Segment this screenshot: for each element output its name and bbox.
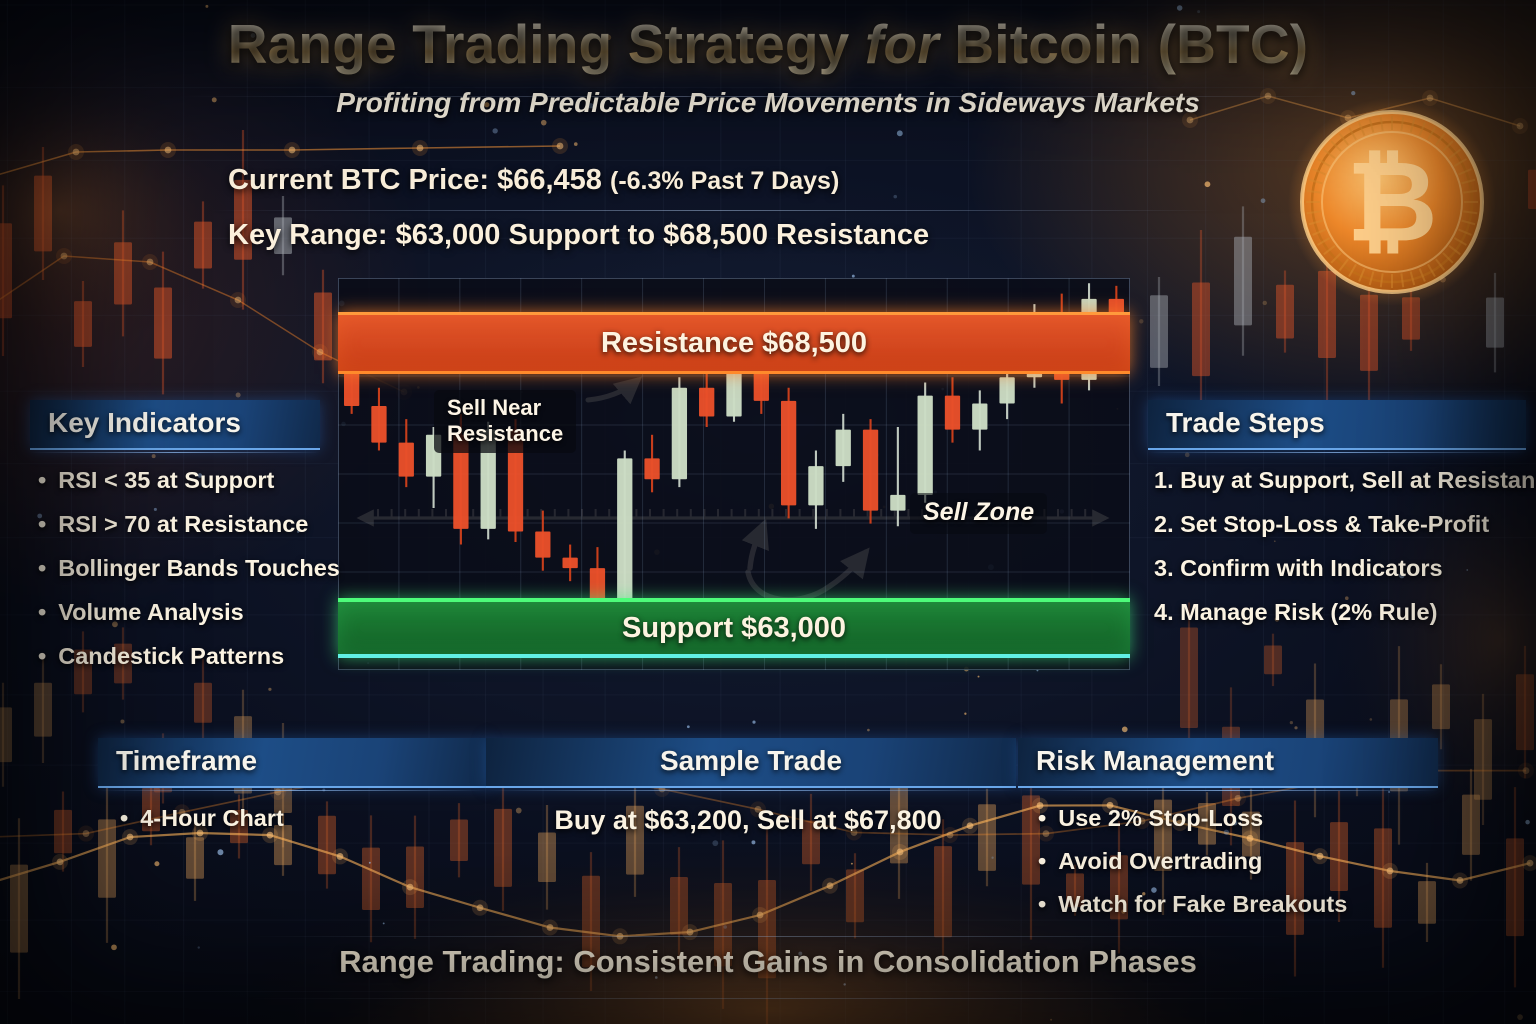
- panel-risk-management-title: Risk Management: [1036, 745, 1274, 776]
- footer-divider-bottom: [250, 998, 1285, 999]
- panel-trade-steps: Trade Steps 1. Buy at Support, Sell at R…: [1148, 400, 1526, 643]
- list-item: Bollinger Bands Touches: [38, 555, 324, 582]
- sell-near-line2: Resistance: [447, 421, 563, 447]
- list-item: Watch for Fake Breakouts: [1038, 891, 1432, 918]
- resistance-band: Resistance $68,500: [338, 312, 1130, 374]
- list-item: 1. Buy at Support, Sell at Resistance: [1154, 467, 1520, 494]
- list-item: RSI < 35 at Support: [38, 467, 324, 494]
- panel-key-indicators-list: RSI < 35 at Support RSI > 70 at Resistan…: [30, 450, 330, 670]
- panel-timeframe: Timeframe 4-Hour Chart: [98, 738, 488, 849]
- svg-text:₿: ₿: [1346, 140, 1437, 265]
- support-band: Support $63,000: [338, 598, 1130, 658]
- panel-timeframe-list: 4-Hour Chart: [98, 788, 488, 832]
- panel-sample-trade-body: Buy at $63,200, Sell at $67,800: [486, 788, 1016, 836]
- footer-text: Range Trading: Consistent Gains in Conso…: [339, 944, 1197, 979]
- list-item: 3. Confirm with Indicators: [1154, 555, 1520, 582]
- footer-divider-top: [250, 936, 1285, 937]
- list-item: Use 2% Stop-Loss: [1038, 805, 1432, 832]
- panel-key-indicators-header: Key Indicators: [30, 400, 320, 450]
- list-item: 2. Set Stop-Loss & Take-Profit: [1154, 511, 1520, 538]
- page-subtitle: Profiting from Predictable Price Movemen…: [0, 87, 1536, 119]
- sell-near-resistance-annotation: Sell Near Resistance: [434, 390, 576, 453]
- panel-key-indicators: Key Indicators RSI < 35 at Support RSI >…: [30, 400, 330, 687]
- panel-trade-steps-title: Trade Steps: [1166, 407, 1325, 438]
- list-item: RSI > 70 at Resistance: [38, 511, 324, 538]
- price-change-badge: (-6.3% Past 7 Days): [610, 167, 839, 195]
- panel-risk-management-list: Use 2% Stop-Loss Avoid Overtrading Watch…: [1018, 788, 1438, 918]
- panel-sample-trade-header: Sample Trade: [486, 738, 1016, 788]
- support-label: Support $63,000: [338, 602, 1130, 654]
- list-item: 4-Hour Chart: [120, 805, 482, 832]
- panel-sample-trade: Sample Trade Buy at $63,200, Sell at $67…: [486, 738, 1016, 853]
- sample-trade-value: Buy at $63,200, Sell at $67,800: [486, 805, 1010, 836]
- footer: Range Trading: Consistent Gains in Conso…: [0, 944, 1536, 980]
- title-italic-word: for: [865, 13, 939, 75]
- resistance-label: Resistance $68,500: [338, 315, 1130, 371]
- bitcoin-coin-icon: ₿: [1288, 96, 1496, 310]
- title-part-2: Bitcoin (BTC): [939, 13, 1308, 75]
- list-item: Candestick Patterns: [38, 643, 324, 670]
- list-item: 4. Manage Risk (2% Rule): [1154, 599, 1520, 626]
- price-stats: Current BTC Price: $66,458 (-6.3% Past 7…: [228, 166, 929, 250]
- sell-zone-annotation: Sell Zone: [910, 493, 1047, 534]
- list-item: Avoid Overtrading: [1038, 848, 1432, 875]
- panel-timeframe-title: Timeframe: [116, 745, 257, 776]
- panel-risk-management-header: Risk Management: [1018, 738, 1438, 788]
- price-chart: Resistance $68,500 Support $63,000 Sell …: [338, 278, 1130, 670]
- current-price-line: Current BTC Price: $66,458 (-6.3% Past 7…: [228, 166, 929, 195]
- panel-trade-steps-header: Trade Steps: [1148, 400, 1526, 450]
- title-part-1: Range Trading Strategy: [228, 13, 865, 75]
- current-price-label: Current BTC Price: $66,458: [228, 164, 602, 196]
- page-title: Range Trading Strategy for Bitcoin (BTC): [0, 12, 1536, 76]
- panel-risk-management: Risk Management Use 2% Stop-Loss Avoid O…: [1018, 738, 1438, 934]
- key-range-line: Key Range: $63,000 Support to $68,500 Re…: [228, 221, 929, 250]
- panel-timeframe-header: Timeframe: [98, 738, 488, 788]
- infographic-canvas: Resistance $68,500 Support $63,000 Sell …: [0, 0, 1536, 1024]
- list-item: Volume Analysis: [38, 599, 324, 626]
- panel-sample-trade-title: Sample Trade: [660, 745, 842, 776]
- panel-trade-steps-list: 1. Buy at Support, Sell at Resistance 2.…: [1148, 450, 1526, 626]
- header: Range Trading Strategy for Bitcoin (BTC)…: [0, 12, 1536, 119]
- sell-near-line1: Sell Near: [447, 395, 563, 421]
- panel-key-indicators-title: Key Indicators: [48, 407, 241, 438]
